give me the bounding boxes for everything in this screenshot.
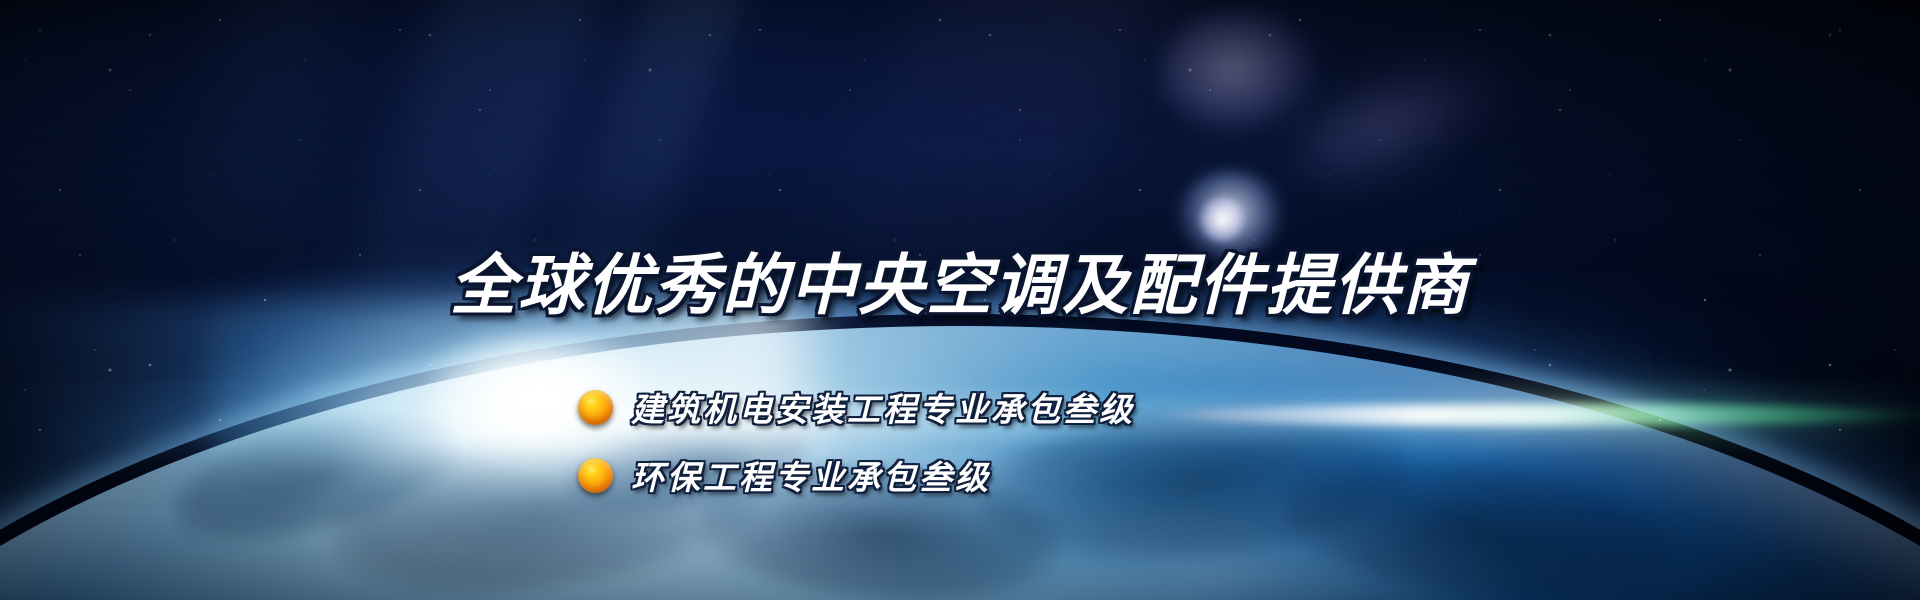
hero-banner: 全球优秀的中央空调及配件提供商 建筑机电安装工程专业承包叁级 环保工程专业承包叁… bbox=[0, 0, 1920, 600]
bullet-dot-icon bbox=[578, 390, 613, 425]
banner-bullet-list: 建筑机电安装工程专业承包叁级 环保工程专业承包叁级 bbox=[578, 378, 1135, 514]
banner-headline: 全球优秀的中央空调及配件提供商 bbox=[0, 252, 1920, 318]
bullet-item-1-label: 建筑机电安装工程专业承包叁级 bbox=[631, 383, 1135, 431]
bullet-item-1: 建筑机电安装工程专业承包叁级 bbox=[578, 378, 1135, 436]
bullet-item-2-label: 环保工程专业承包叁级 bbox=[631, 451, 991, 499]
bullet-item-2: 环保工程专业承包叁级 bbox=[578, 446, 1135, 504]
bullet-dot-icon bbox=[578, 458, 613, 493]
banner-content: 全球优秀的中央空调及配件提供商 建筑机电安装工程专业承包叁级 环保工程专业承包叁… bbox=[0, 0, 1920, 600]
